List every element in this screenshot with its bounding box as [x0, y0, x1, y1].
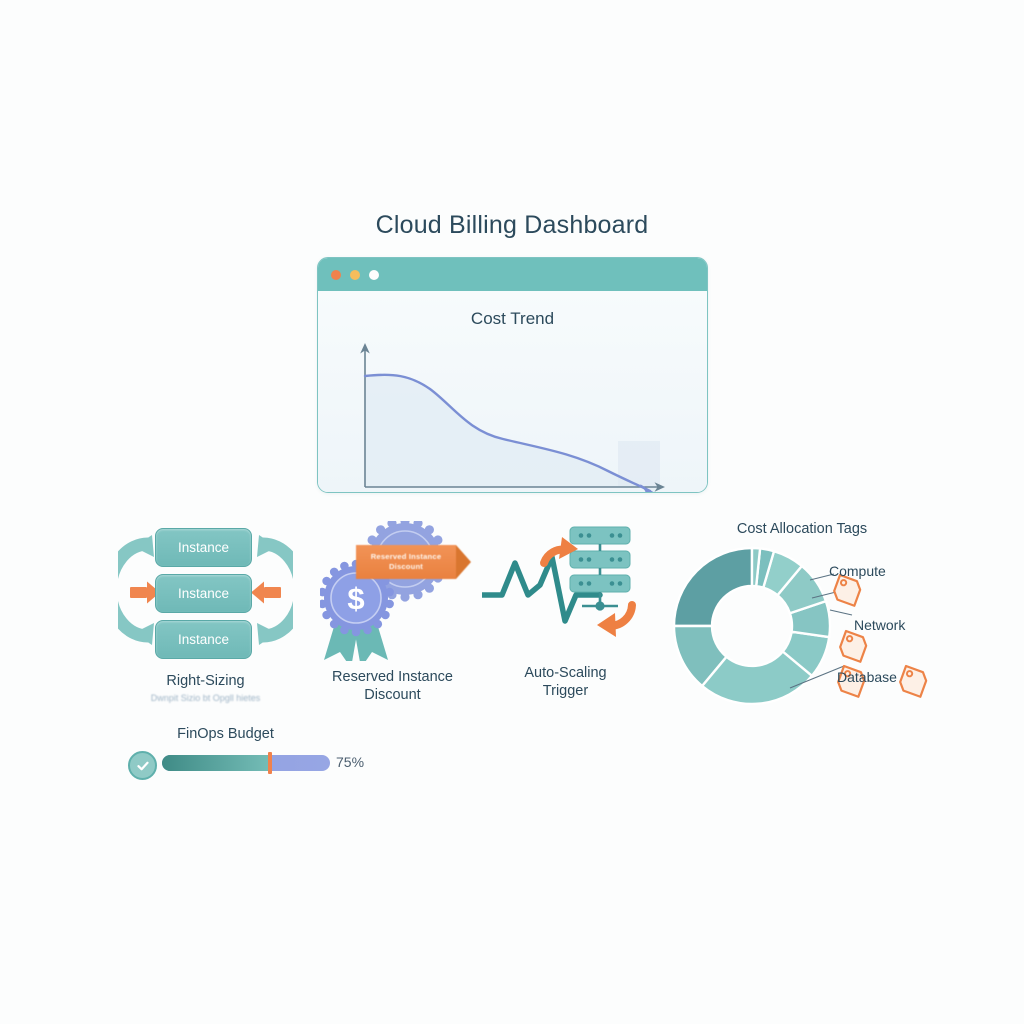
window-body: Cost Trend: [318, 291, 707, 492]
donut-segments: [674, 548, 830, 704]
legend-item-database: Database: [837, 669, 897, 685]
tag-icon: [898, 666, 929, 697]
dollar-sign-glyph: $: [347, 581, 364, 616]
reserved-instance-ribbon: Reserved Instance Discount: [356, 545, 456, 579]
orange-arrow-right: [251, 582, 281, 604]
tag-icon: [838, 631, 869, 662]
legend-item-network: Network: [854, 617, 905, 633]
page-title: Cloud Billing Dashboard: [0, 211, 1024, 240]
check-icon: [128, 751, 157, 780]
caption-reserved-instance-discount: Reserved Instance Discount: [300, 668, 485, 704]
tag-icon: [832, 575, 863, 606]
budget-threshold-marker[interactable]: [268, 752, 272, 774]
feature-right-sizing: Instance Instance Instance: [118, 516, 293, 664]
window-titlebar: [318, 258, 707, 292]
caption-line-2: Discount: [300, 686, 485, 704]
feature-auto-scaling-trigger: [482, 521, 647, 661]
budget-progress-fill: [162, 755, 269, 771]
reserved-instance-badges: $: [320, 521, 465, 661]
scale-down-arrowhead: [597, 613, 616, 637]
feature-reserved-instance-discount: $ Reserved Instance Discount: [320, 521, 465, 661]
window-minimize-dot[interactable]: [350, 270, 360, 280]
donut-segment: [674, 548, 752, 626]
caption-line-2: Trigger: [478, 682, 653, 700]
caption-line-1: Auto-Scaling: [478, 664, 653, 682]
legend-item-compute: Compute: [829, 563, 886, 579]
budget-percent-label: 75%: [336, 754, 364, 770]
finops-budget-title: FinOps Budget: [118, 726, 333, 742]
budget-progress-track[interactable]: [162, 755, 330, 771]
ribbon-line-1: Reserved Instance: [371, 552, 442, 562]
network-node: [595, 601, 604, 610]
cost-trend-chart: [318, 291, 707, 492]
caption-line-1: Reserved Instance: [300, 668, 485, 686]
subcaption-right-sizing: Dwnpit Sizio bt Opgll hietes: [118, 692, 293, 704]
server-stack: [570, 527, 630, 611]
infographic-canvas: Cloud Billing Dashboard Cost Trend: [0, 0, 1024, 1024]
instance-box[interactable]: Instance: [155, 620, 252, 659]
cost-allocation-tags-widget: Cost Allocation Tags: [672, 518, 957, 723]
window-close-dot[interactable]: [331, 270, 341, 280]
finops-budget-widget: FinOps Budget 75%: [118, 726, 368, 781]
caption-right-sizing: Right-Sizing: [118, 672, 293, 690]
ribbon-line-2: Discount: [389, 562, 423, 572]
auto-scaling-graphic: [482, 521, 647, 661]
instance-box[interactable]: Instance: [155, 528, 252, 567]
instance-box[interactable]: Instance: [155, 574, 252, 613]
window-maximize-dot[interactable]: [369, 270, 379, 280]
dashboard-window: Cost Trend: [317, 257, 708, 493]
caption-auto-scaling-trigger: Auto-Scaling Trigger: [478, 664, 653, 700]
donut-chart: [672, 518, 957, 723]
